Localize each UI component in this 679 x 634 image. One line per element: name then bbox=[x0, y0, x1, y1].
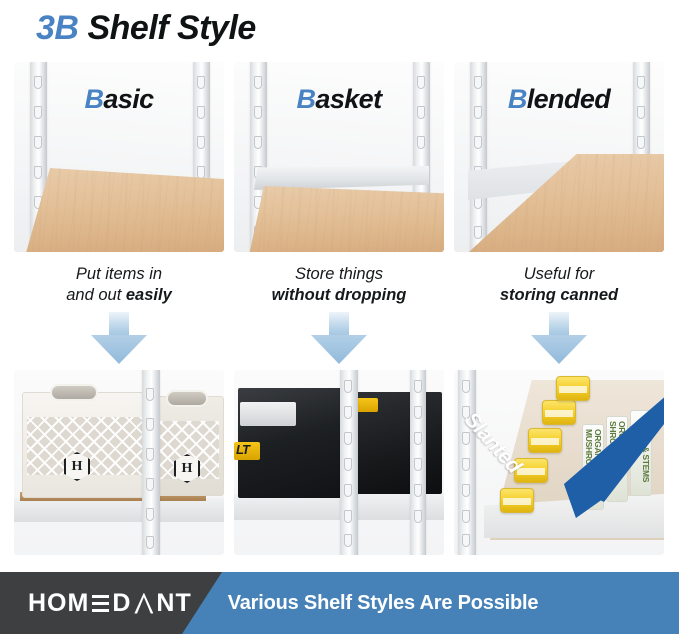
infographic-page: 3BShelf Style bbox=[0, 0, 679, 634]
shelf-board bbox=[248, 186, 444, 252]
upright-post-center bbox=[340, 370, 358, 555]
page-title: 3BShelf Style bbox=[36, 9, 256, 48]
panel-grid: Basic Put items in and out easily bbox=[14, 62, 665, 306]
blended-badge: Blended bbox=[454, 84, 664, 115]
caption-emphasis: storing canned bbox=[500, 286, 618, 304]
down-arrow-icon-basket bbox=[311, 312, 367, 364]
metal-tray bbox=[240, 402, 296, 426]
shelf-card-row: Basic Put items in and out easily bbox=[14, 62, 665, 306]
caption-line-2: and out easily bbox=[14, 285, 224, 306]
badge-initial: B bbox=[508, 84, 527, 114]
panel-blended: Blended Useful for storing canned bbox=[454, 62, 664, 306]
photo-col-cans: ORGANIC MUSHROOMS ORGANIC SHROOMS PIECES… bbox=[454, 370, 664, 555]
upright-post-center bbox=[142, 370, 160, 555]
basket-badge: Basket bbox=[234, 84, 444, 115]
blended-shelf-photo: Blended bbox=[454, 62, 664, 252]
brand-logo: HOM D NT bbox=[28, 589, 192, 618]
down-arrow-icon-blended bbox=[531, 312, 587, 364]
slanted-arrow-icon bbox=[550, 390, 664, 522]
shelf-board bbox=[24, 168, 224, 252]
title-accent: 3B bbox=[36, 9, 78, 47]
toolbox-shelf-photo: LT bbox=[234, 370, 444, 555]
caption-basket: Store things without dropping bbox=[234, 264, 444, 306]
toolbox-brand-text: LT bbox=[236, 442, 249, 457]
shelf-slab bbox=[14, 498, 224, 522]
footer-tagline: Various Shelf Styles Are Possible bbox=[228, 592, 539, 615]
panel-basic: Basic Put items in and out easily bbox=[14, 62, 224, 306]
caption-emphasis: easily bbox=[126, 286, 172, 304]
crate-handle-front bbox=[50, 384, 98, 401]
logo-text-part1: HOM bbox=[28, 589, 89, 618]
basic-badge: Basic bbox=[14, 84, 224, 115]
caption-line-1: Useful for bbox=[454, 264, 664, 285]
caption-blended: Useful for storing canned bbox=[454, 264, 664, 306]
caption-basic: Put items in and out easily bbox=[14, 264, 224, 306]
logo-e-glyph-icon bbox=[92, 593, 109, 614]
milk-crate-front bbox=[22, 392, 152, 498]
photo-col-crates: H H bbox=[14, 370, 224, 555]
caption-line-2: storing canned bbox=[454, 285, 664, 306]
photo-grid: H H LT bbox=[14, 370, 665, 555]
canned-goods-shelf-photo: ORGANIC MUSHROOMS ORGANIC SHROOMS PIECES… bbox=[454, 370, 664, 555]
badge-initial: B bbox=[297, 84, 316, 114]
footer-bar: HOM D NT Various Shelf Styles Are Possib… bbox=[0, 572, 679, 634]
caption-line-1: Put items in bbox=[14, 264, 224, 285]
caption-emphasis: without dropping bbox=[272, 286, 407, 304]
page-header: 3BShelf Style bbox=[0, 0, 679, 56]
logo-text-part2: D bbox=[112, 589, 131, 618]
basket-shelf-photo: Basket bbox=[234, 62, 444, 252]
logo-a-glyph-icon bbox=[134, 593, 153, 614]
upright-post-right bbox=[410, 370, 426, 555]
photo-col-toolboxes: LT bbox=[234, 370, 444, 555]
panel-basket: Basket Store things without dropping bbox=[234, 62, 444, 306]
upright-post-left bbox=[458, 370, 476, 555]
badge-rest: lended bbox=[527, 84, 610, 114]
logo-text-part3: NT bbox=[156, 589, 191, 618]
badge-rest: asic bbox=[103, 84, 153, 114]
crate-shelf-photo: H H bbox=[14, 370, 224, 555]
badge-initial: B bbox=[84, 84, 103, 114]
toolbox-latch-rear bbox=[356, 398, 378, 412]
caption-line-1: Store things bbox=[234, 264, 444, 285]
badge-rest: asket bbox=[315, 84, 381, 114]
down-arrow-icon-basic bbox=[91, 312, 147, 364]
arrow-row bbox=[14, 312, 665, 368]
caption-line-2: without dropping bbox=[234, 285, 444, 306]
crate-handle-back bbox=[166, 390, 208, 407]
title-rest: Shelf Style bbox=[87, 9, 255, 47]
application-photo-row: H H LT bbox=[14, 370, 665, 555]
basic-shelf-photo: Basic bbox=[14, 62, 224, 252]
